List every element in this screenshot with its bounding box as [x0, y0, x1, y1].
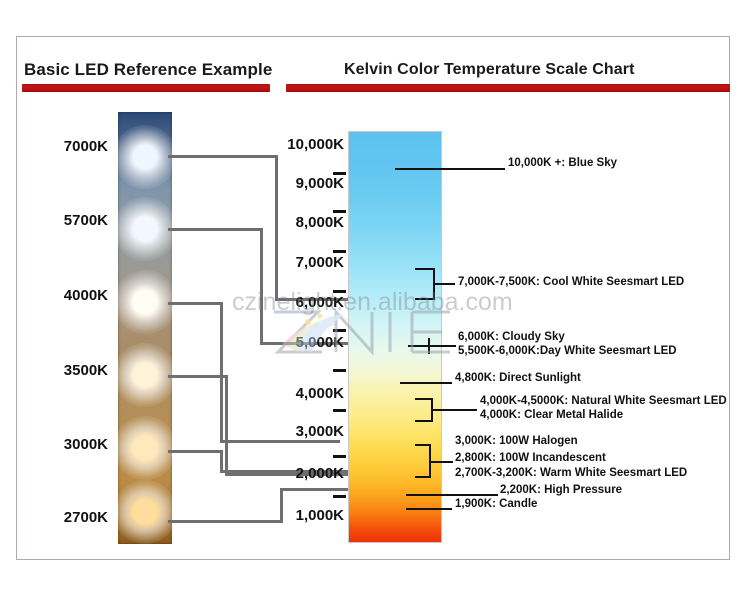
- leader-segment: [406, 508, 452, 510]
- kelvin-scale-number: 3,000K: [266, 423, 344, 440]
- annotation-label: 10,000K +: Blue Sky: [508, 157, 617, 169]
- connector-segment: [220, 440, 340, 443]
- led-kelvin-label: 2700K: [30, 509, 108, 526]
- kelvin-scale-tick: [333, 329, 346, 332]
- leader-segment: [408, 345, 430, 347]
- kelvin-scale-tick: [333, 250, 346, 253]
- led-strip-photo: [118, 112, 172, 544]
- connector-segment: [260, 228, 263, 344]
- leader-segment: [429, 461, 453, 463]
- connector-segment: [220, 450, 223, 472]
- connector-segment: [280, 488, 350, 491]
- leader-segment: [395, 168, 505, 170]
- led-glow: [118, 270, 172, 334]
- led-glow: [118, 197, 172, 261]
- kelvin-scale-number: 5,000K: [266, 334, 344, 351]
- led-kelvin-label: 4000K: [30, 287, 108, 304]
- kelvin-scale-number: 9,000K: [266, 175, 344, 192]
- leader-segment: [431, 409, 477, 411]
- connector-segment: [220, 302, 223, 442]
- connector-segment: [168, 302, 223, 305]
- kelvin-scale-number: 6,000K: [266, 294, 344, 311]
- leader-segment: [415, 268, 435, 270]
- led-kelvin-label: 3000K: [30, 436, 108, 453]
- right-panel-title: Kelvin Color Temperature Scale Chart: [344, 61, 635, 79]
- annotation-label: 4,800K: Direct Sunlight: [455, 372, 581, 384]
- kelvin-scale-tick: [333, 172, 346, 175]
- connector-segment: [168, 450, 223, 453]
- annotation-label: 2,200K: High Pressure: [500, 484, 622, 496]
- led-glow: [118, 480, 172, 544]
- kelvin-gradient-bar: [348, 131, 442, 543]
- kelvin-scale-number: 1,000K: [266, 507, 344, 524]
- annotation-label: 5,500K-6,000K:Day White Seesmart LED: [458, 345, 677, 357]
- leader-segment: [415, 298, 435, 300]
- led-kelvin-label: 5700K: [30, 212, 108, 229]
- kelvin-scale-tick: [333, 409, 346, 412]
- leader-segment: [433, 283, 455, 285]
- annotation-label: 6,000K: Cloudy Sky: [458, 331, 565, 343]
- kelvin-scale-number: 8,000K: [266, 214, 344, 231]
- connector-segment: [168, 375, 228, 378]
- annotation-label: 1,900K: Candle: [455, 498, 537, 510]
- leader-segment: [415, 476, 431, 478]
- leader-segment: [406, 494, 498, 496]
- left-panel-title: Basic LED Reference Example: [24, 60, 272, 80]
- annotation-label: 4,000K: Clear Metal Halide: [480, 409, 623, 421]
- kelvin-color-temperature-infographic: Basic LED Reference Example Kelvin Color…: [0, 0, 750, 599]
- leader-segment: [400, 382, 452, 384]
- connector-segment: [225, 375, 228, 475]
- annotation-label: 4,000K-4,5000K: Natural White Seesmart L…: [480, 395, 727, 407]
- annotation-label: 3,000K: 100W Halogen: [455, 435, 578, 447]
- led-kelvin-label: 3500K: [30, 362, 108, 379]
- connector-segment: [168, 228, 263, 231]
- kelvin-scale-tick: [333, 369, 346, 372]
- led-glow: [118, 125, 172, 189]
- kelvin-scale-number: 7,000K: [266, 254, 344, 271]
- led-glow: [118, 416, 172, 480]
- leader-segment: [415, 420, 433, 422]
- left-title-underline: [22, 84, 270, 92]
- kelvin-scale-number: 2,000K: [266, 465, 344, 482]
- kelvin-scale-tick: [333, 495, 346, 498]
- kelvin-scale-tick: [333, 290, 346, 293]
- annotation-label: 2,700K-3,200K: Warm White Seesmart LED: [455, 467, 687, 479]
- connector-segment: [168, 155, 278, 158]
- right-title-underline: [286, 84, 730, 92]
- kelvin-scale-tick: [333, 210, 346, 213]
- kelvin-scale-number: 10,000K: [266, 136, 344, 153]
- led-glow: [118, 343, 172, 407]
- leader-segment: [428, 345, 456, 347]
- annotation-label: 7,000K-7,500K: Cool White Seesmart LED: [458, 276, 684, 288]
- annotation-label: 2,800K: 100W Incandescent: [455, 452, 606, 464]
- kelvin-scale-tick: [333, 455, 346, 458]
- kelvin-scale-number: 4,000K: [266, 385, 344, 402]
- led-kelvin-label: 7000K: [30, 138, 108, 155]
